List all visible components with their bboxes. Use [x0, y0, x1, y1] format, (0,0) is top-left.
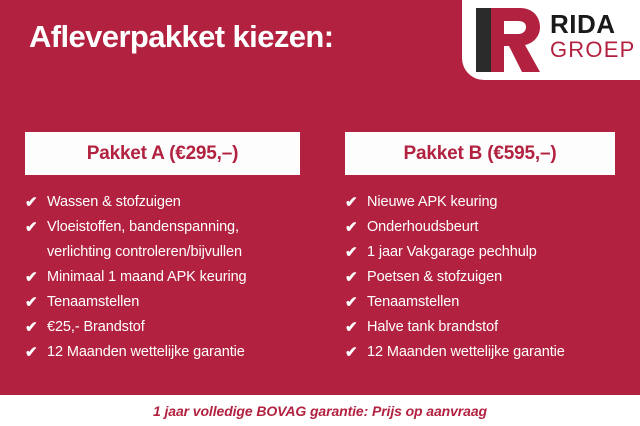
- check-icon: ✔: [345, 315, 361, 340]
- list-item-label: Tenaamstellen: [47, 290, 300, 315]
- list-item-label: 12 Maanden wettelijke garantie: [367, 340, 615, 365]
- list-item: ✔ 12 Maanden wettelijke garantie: [345, 340, 615, 365]
- list-item: ✔ Minimaal 1 maand APK keuring: [25, 265, 300, 290]
- check-icon: ✔: [25, 290, 41, 315]
- list-item: ✔ Poetsen & stofzuigen: [345, 265, 615, 290]
- list-item-label: Onderhoudsbeurt: [367, 215, 615, 240]
- list-item: ✔ Tenaamstellen: [345, 290, 615, 315]
- footer-banner: 1 jaar volledige BOVAG garantie: Prijs o…: [0, 395, 640, 426]
- check-icon: ✔: [345, 265, 361, 290]
- brand-subtitle: GROEP: [550, 39, 635, 61]
- check-icon: ✔: [345, 340, 361, 365]
- list-item-label: 12 Maanden wettelijke garantie: [47, 340, 300, 365]
- list-item-label: Poetsen & stofzuigen: [367, 265, 615, 290]
- list-item-label: Halve tank brandstof: [367, 315, 615, 340]
- check-icon: ✔: [345, 290, 361, 315]
- check-icon: ✔: [345, 215, 361, 240]
- afleverpakket-poster: Afleverpakket kiezen: RIDA GROEP Pakket …: [0, 0, 640, 426]
- list-item-label: Vloeistoffen, bandenspanning, verlichtin…: [47, 215, 300, 265]
- package-b-header-box: Pakket B (€595,–): [345, 132, 615, 175]
- check-icon: ✔: [25, 190, 41, 215]
- list-item-label: 1 jaar Vakgarage pechhulp: [367, 240, 615, 265]
- package-b-feature-list: ✔ Nieuwe APK keuring ✔ Onderhoudsbeurt ✔…: [345, 190, 615, 365]
- list-item: ✔ Halve tank brandstof: [345, 315, 615, 340]
- brand-name: RIDA: [550, 11, 635, 37]
- list-item-label: Nieuwe APK keuring: [367, 190, 615, 215]
- list-item: ✔ Tenaamstellen: [25, 290, 300, 315]
- check-icon: ✔: [345, 190, 361, 215]
- check-icon: ✔: [25, 215, 41, 240]
- package-a-feature-list: ✔ Wassen & stofzuigen ✔ Vloeistoffen, ba…: [25, 190, 300, 365]
- list-item: ✔ 1 jaar Vakgarage pechhulp: [345, 240, 615, 265]
- package-column-a: Pakket A (€295,–) ✔ Wassen & stofzuigen …: [25, 132, 300, 365]
- list-item: ✔ €25,- Brandstof: [25, 315, 300, 340]
- package-column-b: Pakket B (€595,–) ✔ Nieuwe APK keuring ✔…: [345, 132, 615, 365]
- check-icon: ✔: [345, 240, 361, 265]
- list-item-label: Wassen & stofzuigen: [47, 190, 300, 215]
- package-a-header-box: Pakket A (€295,–): [25, 132, 300, 175]
- brand-logo-text: RIDA GROEP: [550, 11, 635, 61]
- package-a-title: Pakket A (€295,–): [87, 143, 239, 165]
- package-b-title: Pakket B (€595,–): [404, 143, 557, 165]
- list-item-label: €25,- Brandstof: [47, 315, 300, 340]
- check-icon: ✔: [25, 340, 41, 365]
- page-title: Afleverpakket kiezen:: [29, 19, 333, 55]
- list-item: ✔ Vloeistoffen, bandenspanning, verlicht…: [25, 215, 300, 265]
- footer-text: 1 jaar volledige BOVAG garantie: Prijs o…: [153, 403, 487, 419]
- list-item: ✔ 12 Maanden wettelijke garantie: [25, 340, 300, 365]
- brand-logo-panel: RIDA GROEP: [462, 0, 640, 80]
- list-item-label: Minimaal 1 maand APK keuring: [47, 265, 300, 290]
- list-item: ✔ Nieuwe APK keuring: [345, 190, 615, 215]
- check-icon: ✔: [25, 315, 41, 340]
- list-item-label: Tenaamstellen: [367, 290, 615, 315]
- check-icon: ✔: [25, 265, 41, 290]
- poster-header: Afleverpakket kiezen: RIDA GROEP: [0, 0, 640, 98]
- list-item: ✔ Onderhoudsbeurt: [345, 215, 615, 240]
- list-item: ✔ Wassen & stofzuigen: [25, 190, 300, 215]
- rida-r-monogram-icon: [476, 6, 542, 74]
